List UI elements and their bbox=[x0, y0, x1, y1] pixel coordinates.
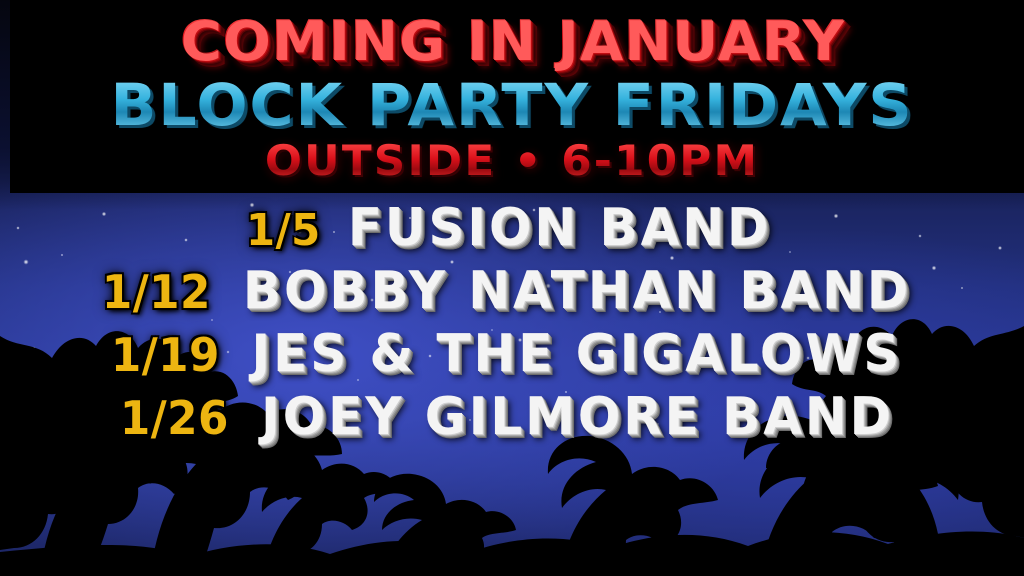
lineup-band-name: FUSION BAND bbox=[347, 202, 771, 254]
headline-coming-in-january: COMING IN JANUARY bbox=[0, 14, 1024, 68]
headline-group: COMING IN JANUARY BLOCK PARTY FRIDAYS OU… bbox=[0, 0, 1024, 182]
lineup-band-name: JES & THE GIGALOWS bbox=[252, 328, 903, 380]
lineup-date: 1/26 bbox=[120, 395, 229, 441]
headline-outside-hours: OUTSIDE • 6-10PM bbox=[0, 140, 1024, 182]
lineup-row: 1/5 FUSION BAND bbox=[244, 202, 780, 254]
lineup-date: 1/12 bbox=[101, 269, 210, 315]
lineup-list: 1/5 FUSION BAND 1/12 BOBBY NATHAN BAND 1… bbox=[0, 196, 1024, 443]
event-poster: COMING IN JANUARY BLOCK PARTY FRIDAYS OU… bbox=[0, 0, 1024, 576]
lineup-row: 1/12 BOBBY NATHAN BAND bbox=[99, 265, 926, 317]
lineup-band-name: JOEY GILMORE BAND bbox=[261, 391, 894, 443]
lineup-row: 1/26 JOEY GILMORE BAND bbox=[117, 391, 907, 443]
headline-block-party-fridays: BLOCK PARTY FRIDAYS bbox=[0, 76, 1024, 134]
lineup-band-name: BOBBY NATHAN BAND bbox=[243, 265, 911, 317]
lineup-date: 1/19 bbox=[111, 332, 220, 378]
lineup-date: 1/5 bbox=[246, 209, 321, 253]
lineup-row: 1/19 JES & THE GIGALOWS bbox=[108, 328, 917, 380]
